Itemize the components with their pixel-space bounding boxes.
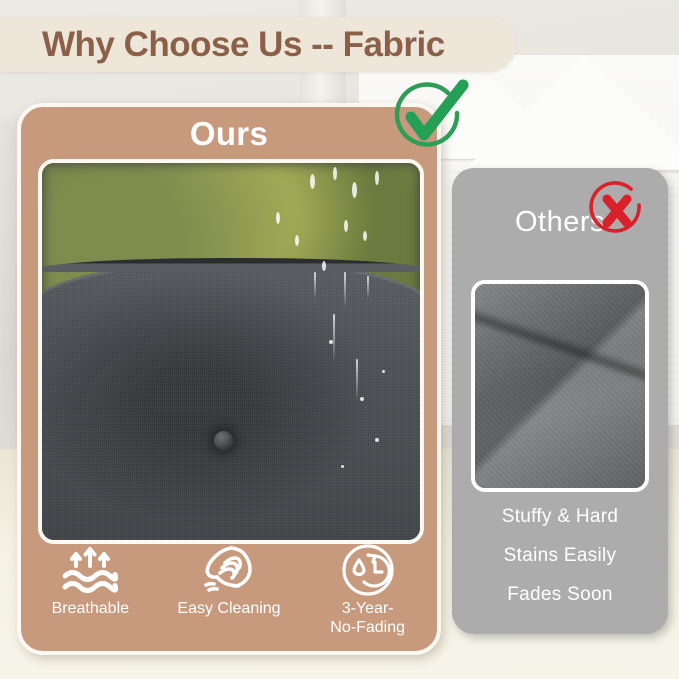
ours-card-title: Ours bbox=[21, 115, 437, 153]
water-bead bbox=[375, 438, 379, 442]
photo-tufted-button bbox=[214, 431, 233, 450]
check-badge bbox=[385, 79, 471, 164]
ours-fabric-photo bbox=[38, 159, 424, 544]
water-droplet bbox=[375, 171, 379, 185]
feature-row: Breathable Easy Cleaning bbox=[21, 542, 437, 637]
feature-no-fading: 3-Year- No-Fading bbox=[303, 542, 433, 637]
list-item: Stuffy & Hard bbox=[452, 506, 668, 528]
water-streak bbox=[367, 276, 369, 298]
list-item: Stains Easily bbox=[452, 545, 668, 567]
water-bead bbox=[341, 465, 344, 468]
ours-card: Ours bbox=[17, 103, 441, 655]
others-fabric-photo bbox=[471, 280, 649, 492]
no-fading-icon bbox=[303, 542, 433, 598]
breathable-icon bbox=[25, 542, 155, 598]
water-streak bbox=[333, 314, 335, 360]
page-title-banner: Why Choose Us -- Fabric bbox=[0, 17, 516, 72]
others-drawback-list: Stuffy & Hard Stains Easily Fades Soon bbox=[452, 506, 668, 623]
water-droplet bbox=[322, 261, 326, 271]
list-item: Fades Soon bbox=[452, 584, 668, 606]
page-title: Why Choose Us -- Fabric bbox=[42, 25, 445, 65]
water-streak bbox=[356, 359, 358, 399]
easy-cleaning-icon bbox=[164, 542, 294, 598]
feature-breathable: Breathable bbox=[25, 542, 155, 618]
feature-label: Breathable bbox=[25, 600, 155, 618]
water-bead bbox=[360, 397, 364, 401]
feature-label: Easy Cleaning bbox=[164, 600, 294, 618]
photo-fabric-weave bbox=[38, 261, 424, 544]
others-fabric-texture bbox=[475, 284, 645, 488]
water-droplet bbox=[352, 182, 357, 198]
feature-easy-cleaning: Easy Cleaning bbox=[164, 542, 294, 618]
feature-label: 3-Year- No-Fading bbox=[303, 600, 433, 637]
background-roof-gable-large bbox=[464, 55, 679, 170]
water-streak bbox=[314, 272, 316, 298]
water-droplet bbox=[333, 167, 337, 180]
cross-badge bbox=[585, 180, 649, 247]
